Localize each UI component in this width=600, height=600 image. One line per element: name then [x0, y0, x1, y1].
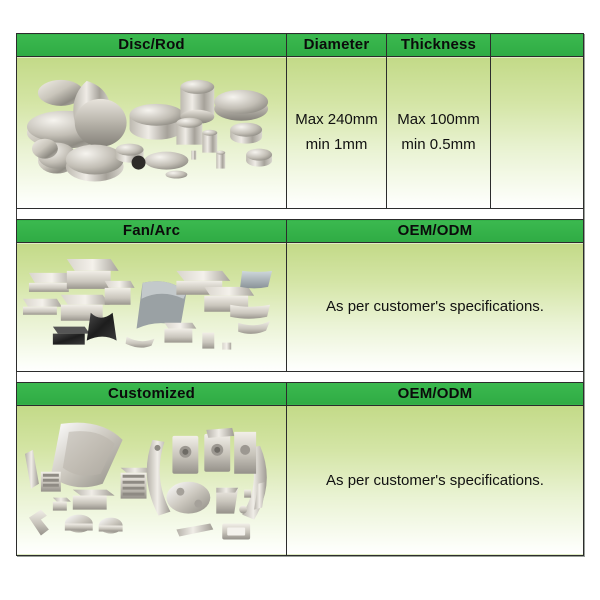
fan-arc-illustration	[17, 243, 286, 371]
table-row: As per customer's specifications.	[17, 243, 584, 372]
header-shape-disc-rod: Disc/Rod	[17, 34, 287, 57]
cell-blank-value	[491, 57, 584, 209]
disc-rod-magnets-photo	[17, 57, 287, 209]
cell-thickness-value: Max 100mm min 0.5mm	[387, 57, 491, 209]
fan-arc-spec-text: As per customer's specifications.	[287, 293, 583, 321]
header-thickness: Thickness	[387, 34, 491, 57]
header-blank	[491, 34, 584, 57]
fan-arc-magnets-photo	[17, 243, 287, 372]
header-oem-odm-customized: OEM/ODM	[287, 382, 584, 405]
table-header-row-fan-arc: Fan/Arc OEM/ODM	[17, 220, 584, 243]
table-row: As per customer's specifications.	[17, 405, 584, 555]
header-diameter: Diameter	[287, 34, 387, 57]
table-header-row-customized: Customized OEM/ODM	[17, 382, 584, 405]
diameter-line-1: Max 240mm	[287, 106, 386, 134]
cell-fan-arc-spec: As per customer's specifications.	[287, 243, 584, 372]
customized-spec-text: As per customer's specifications.	[287, 467, 583, 495]
disc-rod-illustration	[17, 57, 286, 208]
table-row: Max 240mm min 1mm Max 100mm min 0.5mm	[17, 57, 584, 209]
customized-image-stage	[17, 406, 286, 555]
header-shape-customized: Customized	[17, 382, 287, 405]
magnet-spec-table: Disc/Rod Diameter Thickness	[16, 33, 584, 556]
fan-arc-image-stage	[17, 243, 286, 371]
cell-customized-spec: As per customer's specifications.	[287, 405, 584, 555]
page-root: Disc/Rod Diameter Thickness	[0, 0, 600, 600]
header-oem-odm-fan-arc: OEM/ODM	[287, 220, 584, 243]
thickness-line-2: min 0.5mm	[387, 135, 490, 159]
header-shape-fan-arc: Fan/Arc	[17, 220, 287, 243]
disc-rod-image-stage	[17, 57, 286, 208]
customized-illustration	[17, 406, 286, 555]
diameter-line-2: min 1mm	[287, 135, 386, 159]
thickness-line-1: Max 100mm	[387, 106, 490, 134]
section-gap	[17, 209, 584, 220]
customized-magnets-photo	[17, 405, 287, 555]
section-gap	[17, 371, 584, 382]
table-header-row-disc-rod: Disc/Rod Diameter Thickness	[17, 34, 584, 57]
cell-diameter-value: Max 240mm min 1mm	[287, 57, 387, 209]
